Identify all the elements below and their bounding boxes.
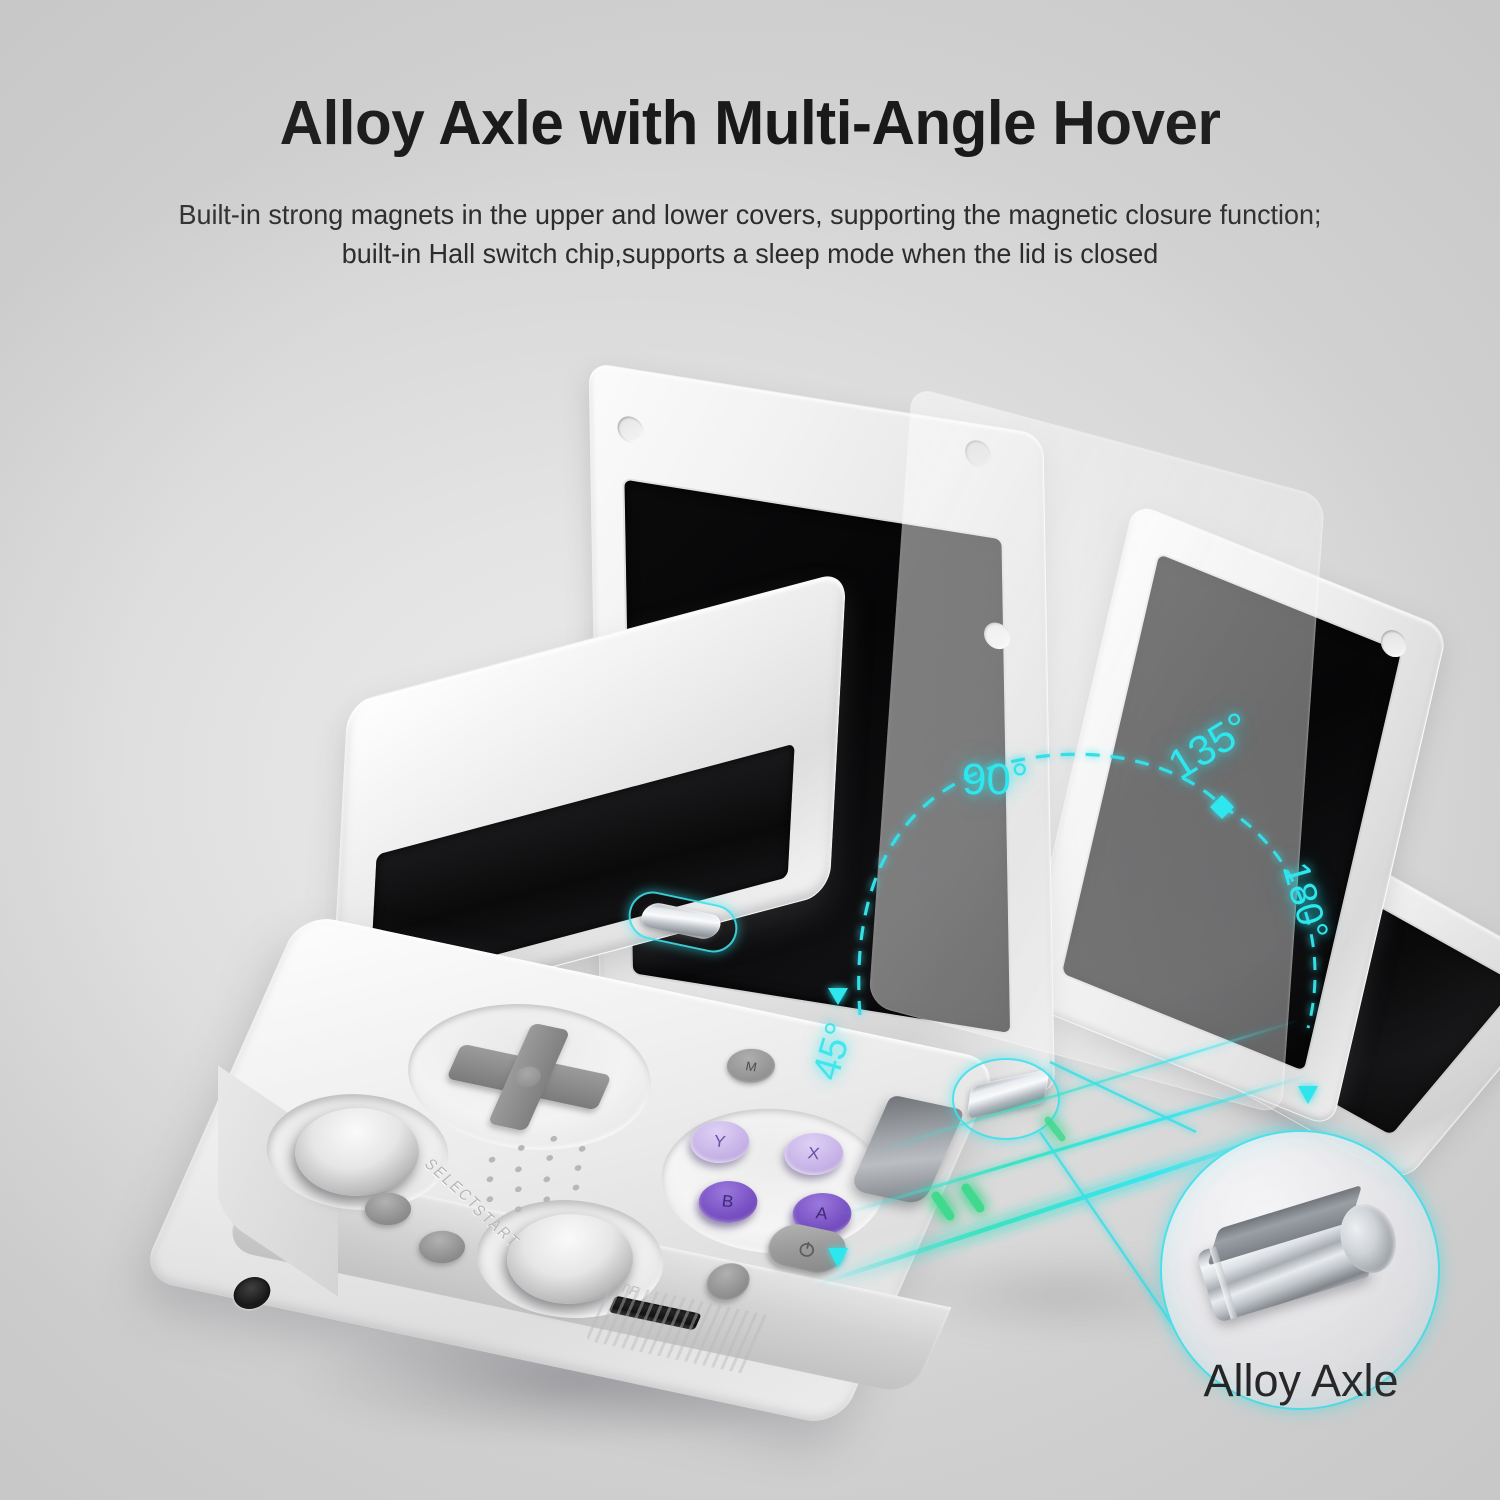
button-x-label: X xyxy=(807,1144,821,1165)
angle-label-90: 90° xyxy=(962,755,1029,805)
console-base: M SELECT START xyxy=(180,930,1160,1490)
product-illustration: M SELECT START xyxy=(0,0,1500,1500)
menu-button-label: M xyxy=(744,1058,758,1074)
button-y-label: Y xyxy=(713,1132,727,1153)
button-a-label: A xyxy=(815,1204,829,1225)
power-icon xyxy=(795,1237,820,1260)
callout-label: Alloy Axle xyxy=(1116,1355,1486,1407)
button-b-label: B xyxy=(721,1192,735,1213)
alloy-axle-hinge-highlight xyxy=(952,1058,1060,1140)
